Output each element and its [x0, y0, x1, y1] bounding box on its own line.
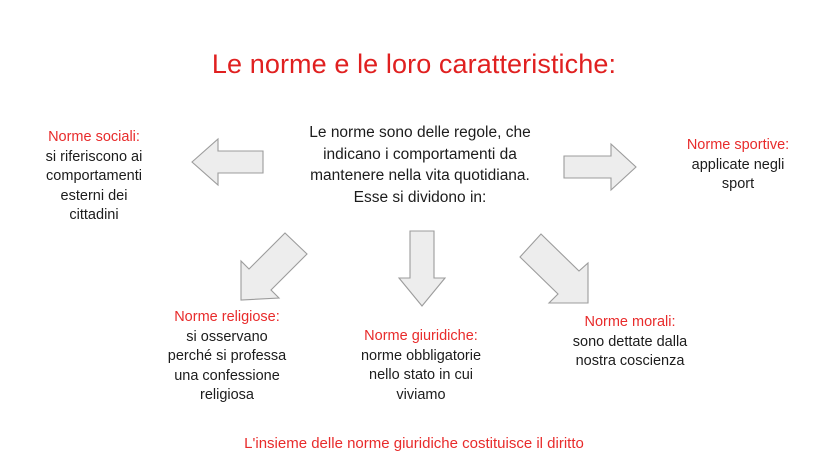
- branch-norme-sociali: Norme sociali: si riferiscono ai comport…: [6, 128, 182, 226]
- branch-sociali-line-2: comportamenti: [6, 167, 182, 187]
- arrow-right-icon: [563, 142, 637, 192]
- branch-heading-giuridiche: Norme giuridiche:: [336, 327, 506, 347]
- branch-norme-sportive: Norme sportive: applicate negli sport: [652, 136, 824, 195]
- branch-religiose-line-3: una confessione: [137, 367, 317, 387]
- branch-norme-giuridiche: Norme giuridiche: norme obbligatorie nel…: [336, 327, 506, 405]
- central-description-line-4: Esse si dividono in:: [272, 187, 568, 209]
- page-title: Le norme e le loro caratteristiche:: [0, 48, 828, 80]
- central-description-line-3: mantenere nella vita quotidiana.: [272, 165, 568, 187]
- branch-sociali-line-3: esterni dei: [6, 187, 182, 207]
- central-description-line-2: indicano i comportamenti da: [272, 144, 568, 166]
- branch-giuridiche-line-2: nello stato in cui: [336, 366, 506, 386]
- branch-sportive-line-2: sport: [652, 175, 824, 195]
- branch-religiose-line-4: religiosa: [137, 386, 317, 406]
- branch-religiose-line-2: perché si professa: [137, 347, 317, 367]
- central-description-line-1: Le norme sono delle regole, che: [272, 122, 568, 144]
- arrow-down-right-icon: [514, 228, 594, 308]
- footer-conclusion: L'insieme delle norme giuridiche costitu…: [0, 434, 828, 454]
- branch-giuridiche-line-1: norme obbligatorie: [336, 347, 506, 367]
- slide-canvas: Le norme e le loro caratteristiche: Le n…: [0, 0, 828, 466]
- branch-morali-line-1: sono dettate dalla: [542, 333, 718, 353]
- branch-sportive-line-1: applicate negli: [652, 156, 824, 176]
- branch-morali-line-2: nostra coscienza: [542, 352, 718, 372]
- branch-heading-morali: Norme morali:: [542, 313, 718, 333]
- branch-heading-sociali: Norme sociali:: [6, 128, 182, 148]
- branch-sociali-line-4: cittadini: [6, 206, 182, 226]
- branch-norme-religiose: Norme religiose: si osservano perché si …: [137, 308, 317, 406]
- branch-religiose-line-1: si osservano: [137, 328, 317, 348]
- arrow-down-icon: [398, 229, 446, 307]
- arrow-down-left-icon: [238, 228, 314, 304]
- branch-heading-religiose: Norme religiose:: [137, 308, 317, 328]
- branch-heading-sportive: Norme sportive:: [652, 136, 824, 156]
- branch-norme-morali: Norme morali: sono dettate dalla nostra …: [542, 313, 718, 372]
- central-description: Le norme sono delle regole, che indicano…: [272, 122, 568, 208]
- arrow-left-icon: [192, 136, 264, 188]
- branch-giuridiche-line-3: viviamo: [336, 386, 506, 406]
- branch-sociali-line-1: si riferiscono ai: [6, 148, 182, 168]
